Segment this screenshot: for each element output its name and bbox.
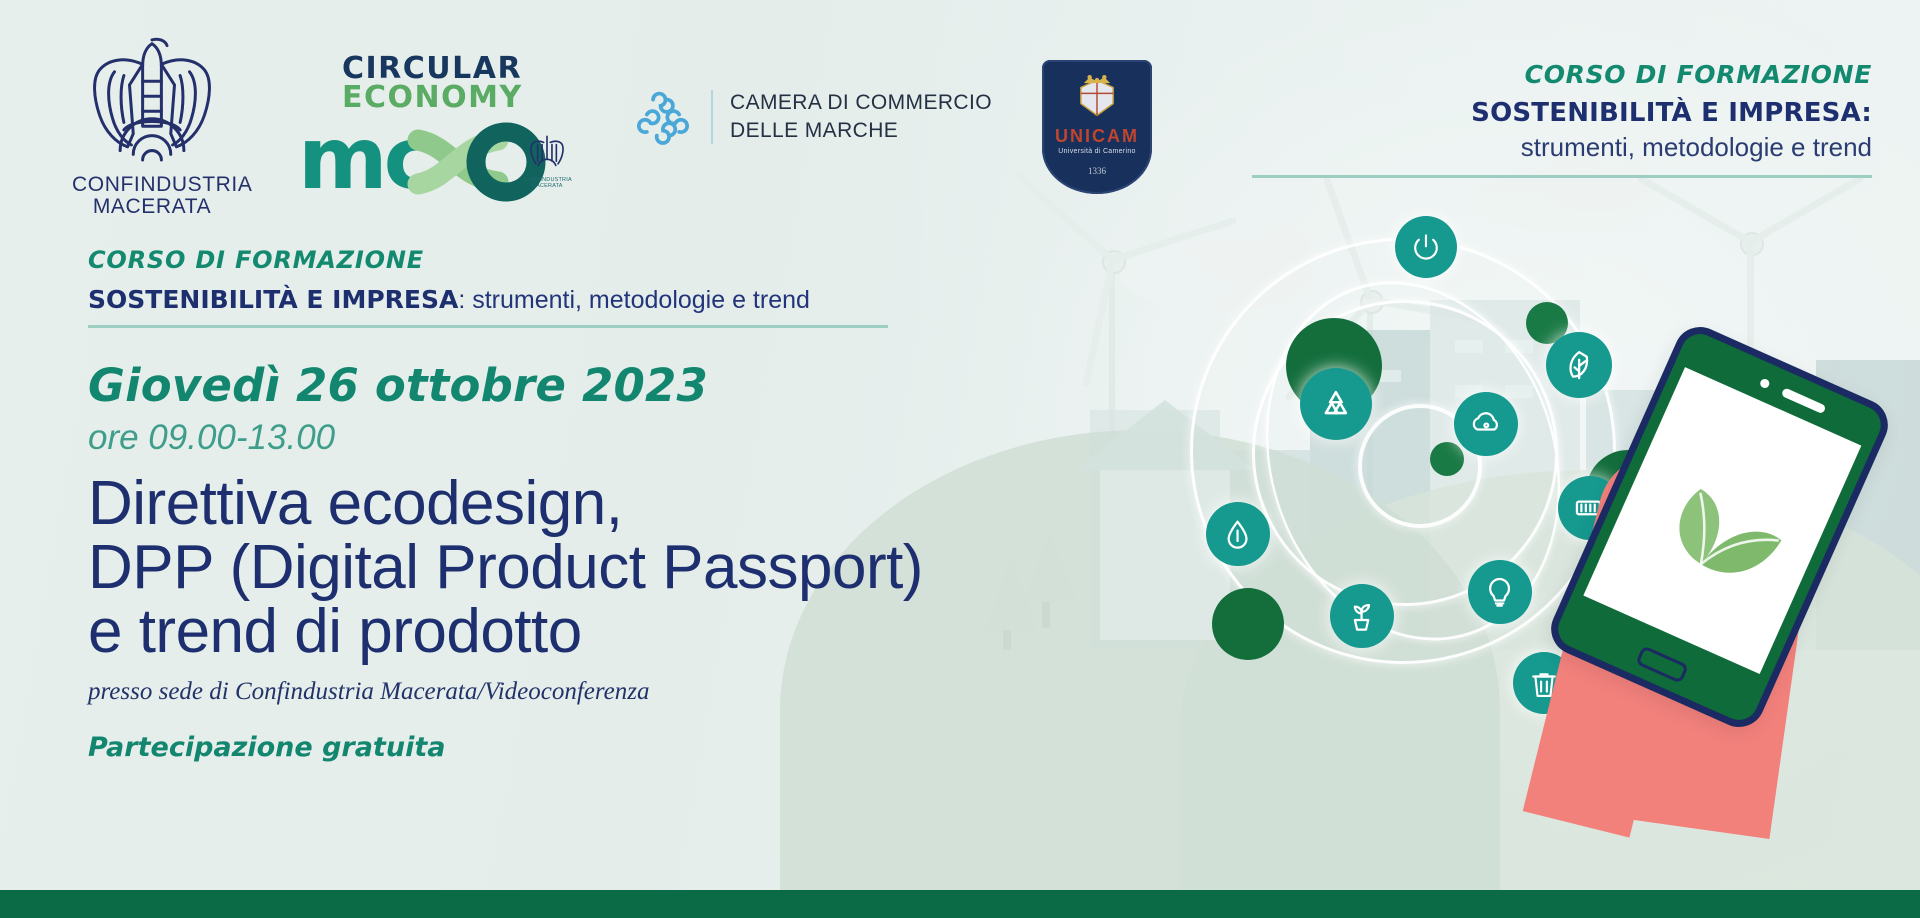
event-title-line3: e trend di prodotto bbox=[88, 600, 928, 664]
unicam-shield-crest-icon: UNICAM Università di Camerino 1336 bbox=[1042, 60, 1152, 194]
mcx-confindustria-badge: CONFINDUSTRIAMACERATA bbox=[524, 131, 570, 189]
tree-crown-shape bbox=[985, 558, 1037, 630]
course-subline-rest: : strumenti, metodologie e trend bbox=[458, 286, 810, 314]
confindustria-logo-line2: MACERATA bbox=[72, 196, 232, 218]
main-content: CORSO DI FORMAZIONE SOSTENIBILITÀ E IMPR… bbox=[88, 246, 928, 763]
confindustria-macerata-mini-icon bbox=[525, 131, 569, 173]
confindustria-logo-line1: CONFINDUSTRIA bbox=[72, 174, 232, 196]
decor-blob bbox=[1212, 588, 1284, 660]
phone-camera-dot bbox=[1759, 378, 1771, 390]
top-right-rule bbox=[1252, 175, 1872, 178]
two-leaves-icon bbox=[1627, 431, 1817, 611]
mcx-wordmark-icon: mc bbox=[300, 112, 560, 208]
unicam-name: UNICAM bbox=[1042, 126, 1152, 147]
top-right-kicker: CORSO DI FORMAZIONE bbox=[1252, 60, 1872, 89]
water-drop-icon bbox=[1206, 502, 1270, 566]
phone-home-button bbox=[1635, 645, 1689, 684]
course-kicker: CORSO DI FORMAZIONE bbox=[88, 246, 928, 274]
camera-di-commercio-logo: CAMERA DI COMMERCIO DELLE MARCHE bbox=[632, 86, 992, 148]
logo-divider bbox=[711, 90, 713, 144]
top-right-subtitle: strumenti, metodologie e trend bbox=[1252, 132, 1872, 163]
participation-free-note: Partecipazione gratuita bbox=[88, 732, 928, 763]
course-subline: SOSTENIBILITÀ E IMPRESA: strumenti, meto… bbox=[88, 285, 928, 315]
phone-in-hand-illustration bbox=[1545, 330, 1920, 830]
event-venue: presso sede di Confindustria Macerata/Vi… bbox=[88, 678, 928, 706]
recycle-icon bbox=[1300, 368, 1372, 440]
cciaa-line2: DELLE MARCHE bbox=[730, 117, 992, 145]
poster-canvas: CONFINDUSTRIA MACERATA CIRCULAR ECONOMY … bbox=[0, 0, 1920, 918]
unicam-logo: UNICAM Università di Camerino 1336 bbox=[1042, 60, 1152, 194]
mcx-line-economy: ECONOMY bbox=[342, 84, 560, 113]
mcx-wordmark: mc bbox=[300, 112, 560, 198]
cloud-icon bbox=[1454, 392, 1518, 456]
circular-economy-mcx-logo: CIRCULAR ECONOMY mc bbox=[300, 55, 560, 198]
cciaa-line1: CAMERA DI COMMERCIO bbox=[730, 89, 992, 117]
decor-blob bbox=[1430, 442, 1464, 476]
course-subline-bold: SOSTENIBILITÀ E IMPRESA bbox=[88, 285, 458, 314]
event-title-line1: Direttiva ecodesign, bbox=[88, 472, 928, 536]
top-right-course-block: CORSO DI FORMAZIONE SOSTENIBILITÀ E IMPR… bbox=[1252, 60, 1872, 178]
svg-text:mc: mc bbox=[300, 112, 431, 208]
swirl-knot-icon bbox=[632, 86, 694, 148]
footer-bar bbox=[0, 890, 1920, 918]
event-title-line2: DPP (Digital Product Passport) bbox=[88, 536, 928, 600]
unicam-year: 1336 bbox=[1042, 166, 1152, 176]
event-time: ore 09.00-13.00 bbox=[88, 418, 928, 458]
tree-trunk-shape bbox=[1042, 600, 1050, 628]
lightbulb-icon bbox=[1468, 560, 1532, 624]
event-date: Giovedì 26 ottobre 2023 bbox=[88, 359, 928, 412]
unicam-subtitle: Università di Camerino bbox=[1042, 148, 1152, 155]
phone-speaker-slot bbox=[1781, 387, 1827, 414]
camera-di-commercio-text: CAMERA DI COMMERCIO DELLE MARCHE bbox=[730, 89, 992, 144]
main-rule bbox=[88, 325, 888, 328]
event-title: Direttiva ecodesign, DPP (Digital Produc… bbox=[88, 472, 928, 664]
top-right-title: SOSTENIBILITÀ E IMPRESA: bbox=[1252, 98, 1872, 128]
confindustria-eagle-icon bbox=[77, 28, 227, 170]
unicam-crest-icon bbox=[1075, 74, 1119, 120]
confindustria-macerata-logo: CONFINDUSTRIA MACERATA bbox=[72, 28, 232, 218]
potted-plant-icon bbox=[1330, 584, 1394, 648]
